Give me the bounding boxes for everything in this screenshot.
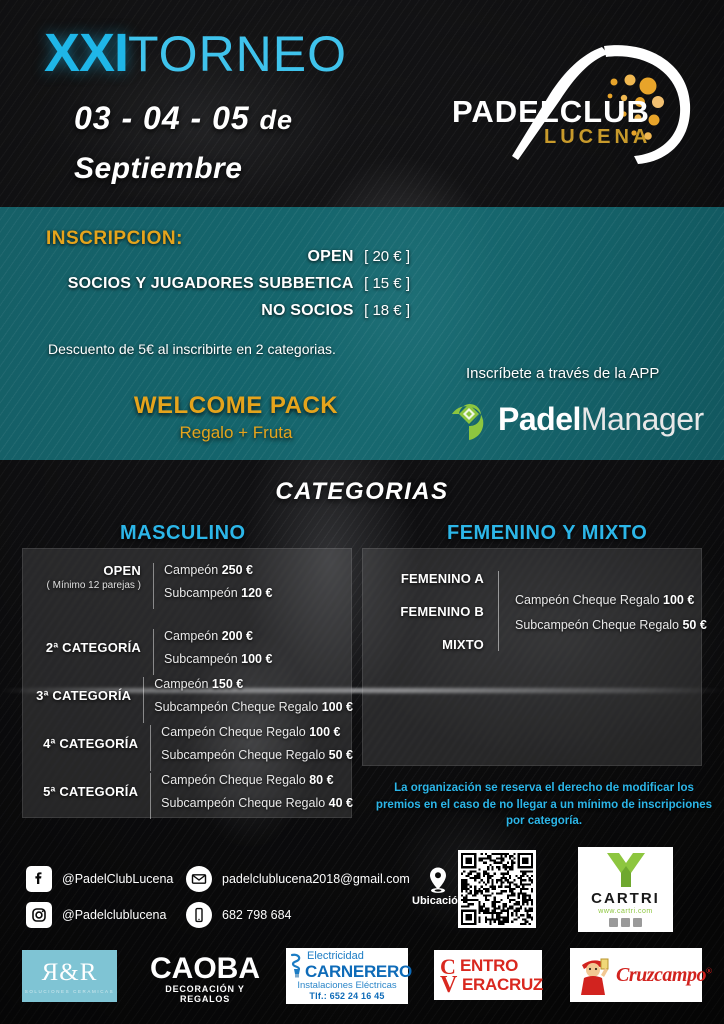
club-logo-text: PADELCLUB [452,94,676,130]
prize-line: Campeón Cheque Regalo 80 € [161,773,353,787]
instagram-icon [26,902,52,928]
price-label: OPEN [308,248,354,265]
carnerero-phone: Tlf.: 652 24 16 45 [290,991,404,1001]
prize-amount: 100 € [322,700,353,714]
masculine-heading: MASCULINO [120,522,246,545]
cartri-social-icons [609,918,642,927]
price-row: NO SOCIOS [ 18 € ] [68,302,410,320]
prize-amount: 80 € [309,773,333,787]
prize-amount: 250 € [222,563,253,577]
masculine-prizes-card: OPEN ( Mínimo 12 parejas ) Campeón 250 €… [22,548,352,818]
prizes-cell: Campeón Cheque Regalo 100 € Subcampeón C… [150,725,353,771]
prize-line: Campeón 150 € [154,677,353,691]
app-signup-note: Inscríbete a través de la APP [466,365,659,382]
prize-line: Subcampeón Cheque Regalo 50 € [515,618,707,632]
facebook-mini-icon [609,918,618,927]
carnerero-line1: Electricidad [290,951,404,963]
table-row: 5ª CATEGORÍA Campeón Cheque Regalo 80 € … [23,773,353,819]
phone-number: 682 798 684 [222,908,292,922]
table-row: 3ª CATEGORÍA Campeón 150 € Subcampeón Ch… [23,677,353,723]
price-list: OPEN [ 20 € ] SOCIOS Y JUGADORES SUBBETI… [68,248,410,329]
prize-text: Subcampeón Cheque Regalo [154,700,321,714]
caoba-tagline: DECORACIÓN Y REGALOS [140,984,270,1004]
prize-amount: 100 € [241,652,272,666]
club-logo-club: CLUB [560,94,650,129]
prize-line: Subcampeón Cheque Regalo 50 € [161,748,353,762]
facebook-icon [26,866,52,892]
prize-amount: 200 € [222,629,253,643]
contact-instagram[interactable]: @Padelclublucena [26,902,166,928]
padel-manager-logo[interactable]: PadelManager [448,396,704,442]
sponsor-logo-caoba: CAOBA DECORACIÓN Y REGALOS [140,952,270,1004]
cartri-name: CARTRI [591,890,660,907]
veracruz-eracruz: ERACRUZ [462,975,543,995]
poster-header: XXITORNEO 03 - 04 - 05 de Septiembre [0,0,724,207]
prize-line: Campeón Cheque Regalo 100 € [161,725,353,739]
prize-text: Campeón Cheque Regalo [515,593,663,607]
feminine-category: MIXTO [373,637,484,652]
cruzcampo-wordmark: Cruzcampo® [616,964,711,987]
prizes-cell: Campeón 250 € Subcampeón 120 € [153,563,353,609]
cartri-sponsor-logo: CARTRI www.cartri.com [578,847,673,932]
category-cell: 4ª CATEGORÍA [23,725,150,771]
location-block[interactable]: Ubicación [412,866,464,907]
veracruz-v: V [440,972,457,999]
category-name: OPEN [23,563,141,578]
padel-club-lucena-logo: PADELCLUB LUCENA [452,38,702,170]
prizes-cell: Campeón 200 € Subcampeón 100 € [153,629,353,675]
price-value: [ 20 € ] [364,248,410,265]
twitter-mini-icon [621,918,630,927]
cartri-cube-icon [603,851,649,889]
category-cell: 2ª CATEGORÍA [23,629,153,675]
dates-de: de [260,105,294,135]
prize-line: Campeón 250 € [164,563,353,577]
prize-amount: 40 € [329,796,353,810]
prize-amount: 50 € [329,748,353,762]
prize-line: Subcampeón 120 € [164,586,353,600]
prize-text: Campeón [164,563,222,577]
prize-amount: 150 € [212,677,243,691]
price-label: NO SOCIOS [261,302,353,319]
event-dates: 03 - 04 - 05 de [74,100,293,137]
sponsor-logo-veracruz: C ENTRO V ERACRUZ [434,950,542,1000]
category-name: 3ª CATEGORÍA [23,688,131,703]
prize-line: Subcampeón 100 € [164,652,353,666]
qr-code[interactable] [458,850,536,928]
category-name: 2ª CATEGORÍA [23,640,141,655]
prize-line: Subcampeón Cheque Regalo 100 € [154,700,353,714]
veracruz-wordmark: C ENTRO V ERACRUZ [438,953,538,997]
prize-text: Campeón [154,677,212,691]
category-name: 5ª CATEGORÍA [23,784,138,799]
category-cell: 5ª CATEGORÍA [23,773,150,819]
price-value: [ 15 € ] [364,275,410,292]
feminine-category: FEMENINO B [373,604,484,619]
feminine-category-list: FEMENINO A FEMENINO B MIXTO [373,571,499,651]
phone-icon [186,902,212,928]
prize-amount: 50 € [682,618,706,632]
prize-text: Subcampeón Cheque Regalo [161,748,328,762]
prize-text: Campeón Cheque Regalo [161,725,309,739]
category-cell: 3ª CATEGORÍA [23,677,143,723]
prize-amount: 120 € [241,586,272,600]
prize-text: Campeón [164,629,222,643]
padel-manager-wordmark: PadelManager [498,401,704,438]
envelope-icon [186,866,212,892]
cruzcampo-mascot-icon [574,953,614,997]
prize-amount: 100 € [663,593,694,607]
prize-line: Campeón Cheque Regalo 100 € [515,593,707,607]
qr-code-pattern [461,853,533,925]
contact-email[interactable]: padelclublucena2018@gmail.com [186,866,410,892]
category-cell: OPEN ( Mínimo 12 parejas ) [23,563,153,609]
instagram-handle: @Padelclublucena [62,908,166,922]
price-value: [ 18 € ] [364,302,410,319]
padel-manager-mark-icon [448,396,490,442]
welcome-pack-title: WELCOME PACK [126,392,346,420]
feminine-category: FEMENINO A [373,571,484,586]
contact-facebook[interactable]: @PadelClubLucena [26,866,173,892]
prize-line: Subcampeón Cheque Regalo 40 € [161,796,353,810]
feminine-prizes-cell: Campeón Cheque Regalo 100 € Subcampeón C… [515,593,707,643]
carnerero-line2: CARNERERO [290,963,404,980]
sponsor-logo-rr: Я&R SOLUCIONES CERAMICAS [22,950,117,1002]
table-row: 2ª CATEGORÍA Campeón 200 € Subcampeón 10… [23,629,353,675]
contact-phone[interactable]: 682 798 684 [186,902,292,928]
caoba-wordmark: CAOBA [140,952,270,986]
rr-wordmark: Я&R [42,959,98,987]
cruzcampo-text: Cruzcampo [616,964,706,986]
event-word: TORNEO [128,26,347,82]
club-logo-padel: PADEL [452,94,560,129]
cartri-url: www.cartri.com [598,908,652,915]
price-row: SOCIOS Y JUGADORES SUBBETICA [ 15 € ] [68,275,410,293]
category-note: ( Mínimo 12 parejas ) [23,580,141,591]
tournament-poster: XXITORNEO 03 - 04 - 05 de Septiembre [0,0,724,1024]
price-row: OPEN [ 20 € ] [68,248,410,266]
prizes-cell: Campeón Cheque Regalo 80 € Subcampeón Ch… [150,773,353,819]
category-name: 4ª CATEGORÍA [23,736,138,751]
rr-tagline: SOLUCIONES CERAMICAS [25,989,115,994]
youtube-mini-icon [633,918,642,927]
facebook-handle: @PadelClubLucena [62,872,173,886]
club-logo-lucena: LUCENA [544,126,651,149]
prize-text: Campeón Cheque Regalo [161,773,309,787]
page-title: XXITORNEO [44,22,347,84]
prize-text: Subcampeón Cheque Regalo [161,796,328,810]
map-pin-icon [427,866,449,894]
edition-number: XXI [44,23,128,83]
feminine-prizes-card: FEMENINO A FEMENINO B MIXTO Campeón Cheq… [362,548,702,766]
table-row: OPEN ( Mínimo 12 parejas ) Campeón 250 €… [23,563,353,609]
veracruz-centro: ENTRO [460,956,518,976]
price-label: SOCIOS Y JUGADORES SUBBETICA [68,275,354,292]
table-row: 4ª CATEGORÍA Campeón Cheque Regalo 100 €… [23,725,353,771]
location-label: Ubicación [412,895,464,907]
sponsor-logo-cruzcampo: Cruzcampo® [570,948,702,1002]
welcome-pack-block: WELCOME PACK Regalo + Fruta [126,392,346,443]
carnerero-line3: Instalaciones Eléctricas [290,980,404,991]
lightbulb-icon [290,953,304,979]
feminine-heading: FEMENINO Y MIXTO [447,522,647,545]
dates-numbers: 03 - 04 - 05 [74,100,250,136]
prize-amount: 100 € [309,725,340,739]
prize-line: Campeón 200 € [164,629,353,643]
prize-text: Subcampeón Cheque Regalo [515,618,682,632]
sponsor-logo-carnerero: Electricidad CARNERERO Instalaciones Elé… [286,948,408,1004]
event-month: Septiembre [74,152,242,186]
welcome-pack-subtitle: Regalo + Fruta [126,423,346,443]
email-address: padelclublucena2018@gmail.com [222,872,410,886]
padel-manager-light: Manager [581,401,704,437]
prize-text: Subcampeón [164,586,241,600]
inscription-title: INSCRIPCION: [46,228,183,250]
prizes-cell: Campeón 150 € Subcampeón Cheque Regalo 1… [143,677,353,723]
prizes-disclaimer: La organización se reserva el derecho de… [372,780,716,830]
categories-title: CATEGORIAS [0,478,724,506]
padel-manager-bold: Padel [498,401,581,437]
discount-note: Descuento de 5€ al inscribirte en 2 cate… [48,341,336,357]
prize-text: Subcampeón [164,652,241,666]
